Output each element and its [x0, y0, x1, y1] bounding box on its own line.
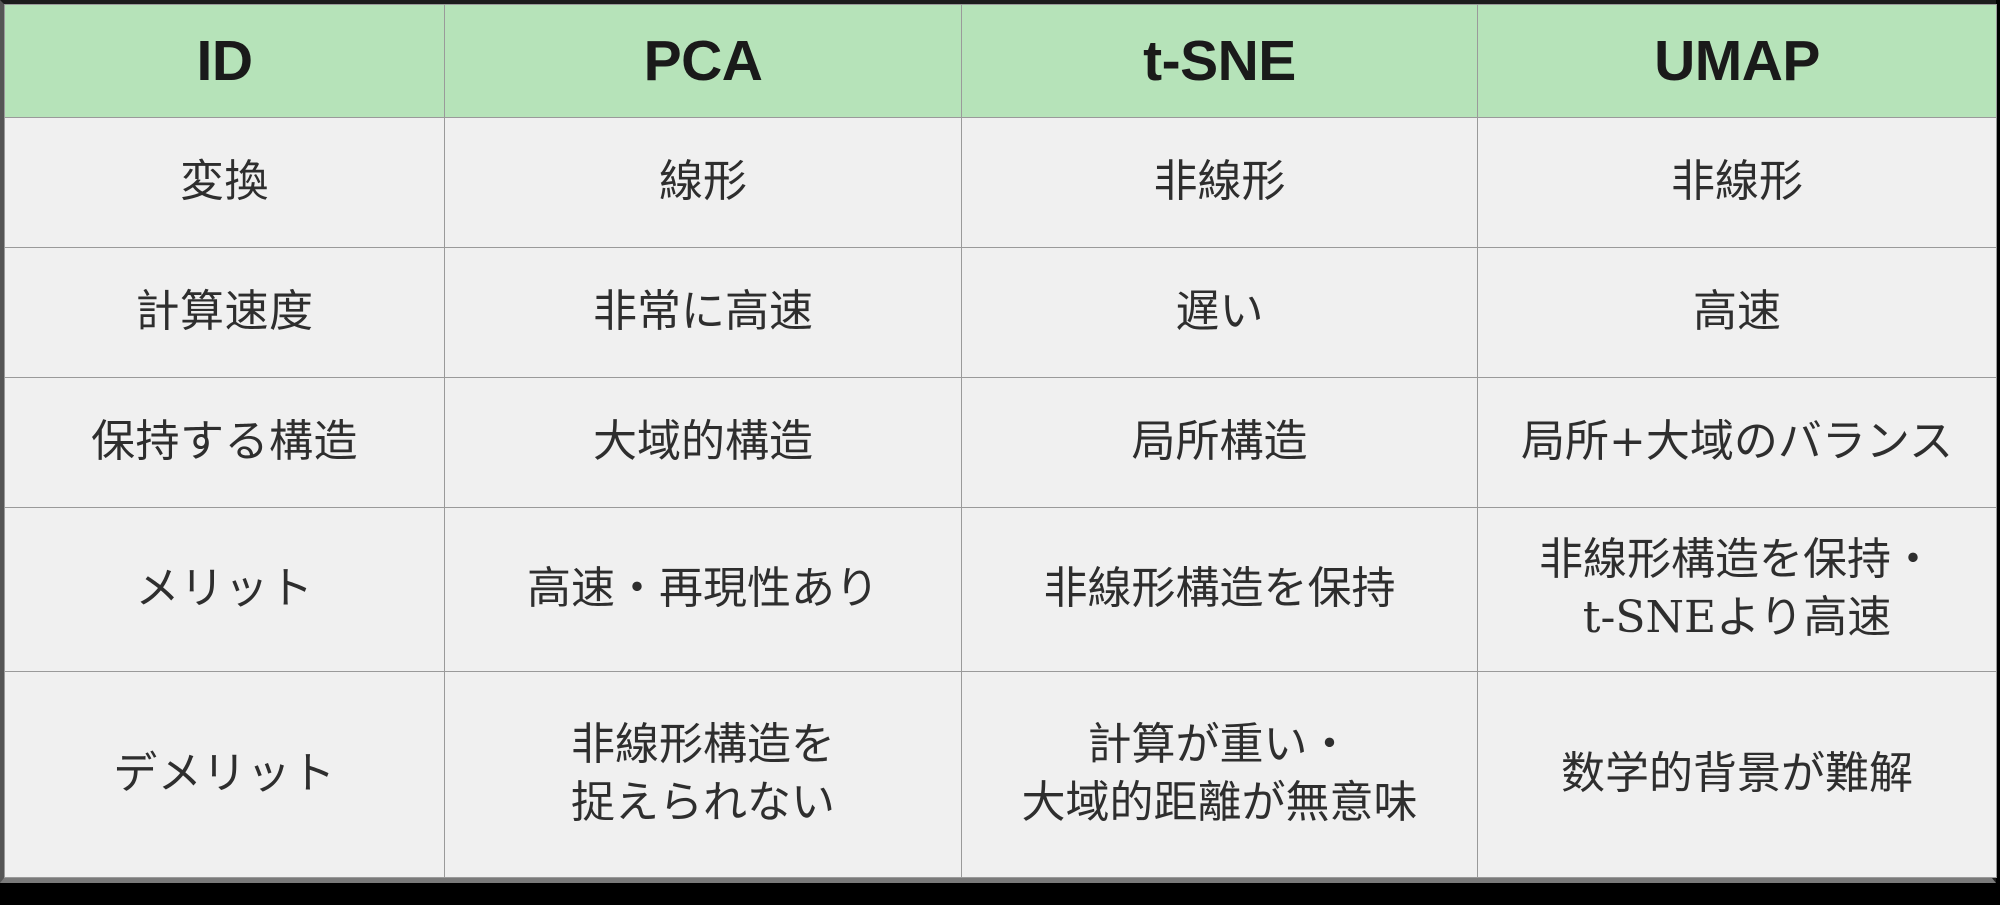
table-row: 変換 線形 非線形 非線形: [5, 118, 1997, 248]
cell-umap-speed: 高速: [1478, 248, 1997, 378]
cell-pca-merit: 高速・再現性あり: [445, 508, 962, 672]
table-header: ID PCA t-SNE UMAP: [5, 5, 1997, 118]
cell-pca-speed: 非常に高速: [445, 248, 962, 378]
table-body: 変換 線形 非線形 非線形 計算速度 非常に高速 遅い 高速 保持する構造 大域…: [5, 118, 1997, 878]
column-header-tsne: t-SNE: [962, 5, 1478, 118]
comparison-table: ID PCA t-SNE UMAP 変換 線形 非線形 非線形 計算速度 非常に…: [4, 4, 1997, 878]
cell-tsne-merit: 非線形構造を保持: [962, 508, 1478, 672]
cell-pca-structure: 大域的構造: [445, 378, 962, 508]
row-label-demerit: デメリット: [5, 671, 445, 877]
table-row: デメリット 非線形構造を 捉えられない 計算が重い・ 大域的距離が無意味 数学的…: [5, 671, 1997, 877]
row-label-structure: 保持する構造: [5, 378, 445, 508]
table-row: メリット 高速・再現性あり 非線形構造を保持 非線形構造を保持・ t-SNEより…: [5, 508, 1997, 672]
header-row: ID PCA t-SNE UMAP: [5, 5, 1997, 118]
cell-tsne-speed: 遅い: [962, 248, 1478, 378]
column-header-umap: UMAP: [1478, 5, 1997, 118]
cell-umap-demerit: 数学的背景が難解: [1478, 671, 1997, 877]
column-header-pca: PCA: [445, 5, 962, 118]
cell-tsne-demerit: 計算が重い・ 大域的距離が無意味: [962, 671, 1478, 877]
cell-pca-demerit: 非線形構造を 捉えられない: [445, 671, 962, 877]
cell-pca-transform: 線形: [445, 118, 962, 248]
table-row: 保持する構造 大域的構造 局所構造 局所+大域のバランス: [5, 378, 1997, 508]
column-header-id: ID: [5, 5, 445, 118]
row-label-merit: メリット: [5, 508, 445, 672]
row-label-transform: 変換: [5, 118, 445, 248]
cell-umap-merit: 非線形構造を保持・ t-SNEより高速: [1478, 508, 1997, 672]
cell-umap-transform: 非線形: [1478, 118, 1997, 248]
table-row: 計算速度 非常に高速 遅い 高速: [5, 248, 1997, 378]
row-label-speed: 計算速度: [5, 248, 445, 378]
cell-tsne-structure: 局所構造: [962, 378, 1478, 508]
table-frame: ID PCA t-SNE UMAP 変換 線形 非線形 非線形 計算速度 非常に…: [0, 0, 1996, 883]
screenshot-canvas: ID PCA t-SNE UMAP 変換 線形 非線形 非線形 計算速度 非常に…: [0, 0, 2000, 905]
cell-umap-structure: 局所+大域のバランス: [1478, 378, 1997, 508]
cell-tsne-transform: 非線形: [962, 118, 1478, 248]
